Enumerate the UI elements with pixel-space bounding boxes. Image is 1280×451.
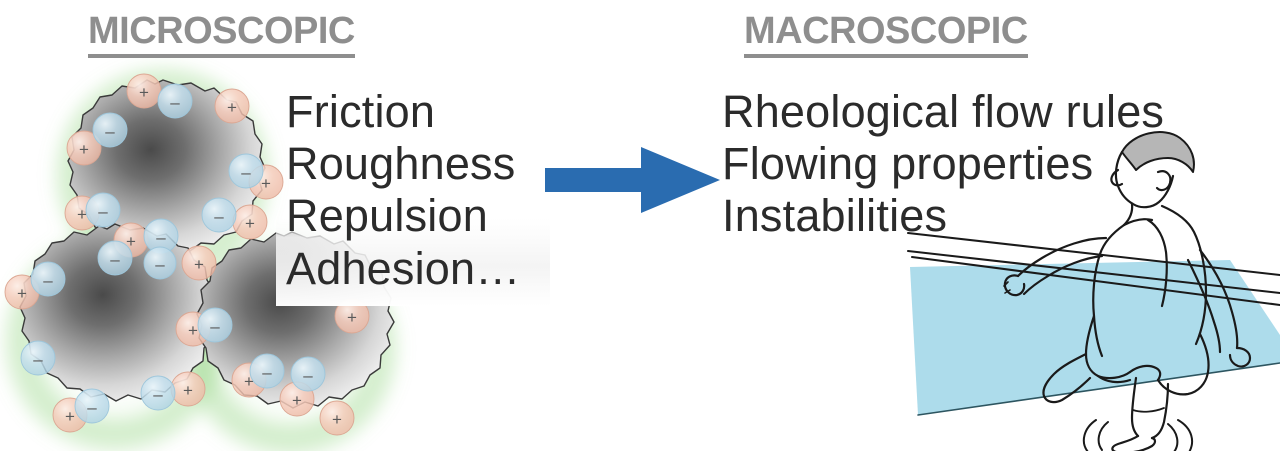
svg-text:–: – <box>43 271 53 290</box>
svg-text:+: + <box>332 410 342 429</box>
micro-property-2: Repulsion <box>286 190 520 242</box>
heading-macroscopic: MACROSCOPIC <box>744 12 1028 58</box>
ripple-left-inner <box>1099 422 1108 450</box>
front-leg <box>1132 378 1138 436</box>
macro-property-1: Flowing properties <box>722 138 1164 190</box>
ripple-right-outer <box>1178 420 1192 451</box>
svg-text:–: – <box>98 202 108 221</box>
svg-text:–: – <box>156 228 166 247</box>
macro-property-0: Rheological flow rules <box>722 86 1164 138</box>
svg-text:+: + <box>79 140 89 159</box>
heading-microscopic-text: MICROSCOPIC <box>88 10 355 52</box>
arrow-shape <box>545 147 720 213</box>
macroscopic-property-list: Rheological flow rules Flowing propertie… <box>722 86 1164 243</box>
svg-text:+: + <box>261 174 271 193</box>
figure-canvas: MICROSCOPIC MACROSCOPIC <box>0 0 1280 451</box>
svg-text:–: – <box>210 317 220 336</box>
svg-text:+: + <box>17 284 27 303</box>
svg-text:+: + <box>227 98 237 117</box>
svg-text:+: + <box>183 381 193 400</box>
svg-text:–: – <box>170 93 180 112</box>
svg-text:–: – <box>214 207 224 226</box>
ripple-right-inner <box>1168 424 1177 451</box>
svg-text:–: – <box>241 163 251 182</box>
svg-text:–: – <box>155 255 165 274</box>
heading-macroscopic-text: MACROSCOPIC <box>744 10 1028 52</box>
svg-text:–: – <box>303 366 313 385</box>
ankle-line <box>1133 408 1164 412</box>
heading-macroscopic-underline <box>744 54 1028 58</box>
microscopic-property-list: Friction Roughness Repulsion Adhesion… <box>286 86 520 295</box>
svg-text:–: – <box>153 385 163 404</box>
macro-property-2: Instabilities <box>722 190 1164 242</box>
svg-text:+: + <box>77 205 87 224</box>
micro-property-3: Adhesion… <box>286 243 520 295</box>
heading-microscopic: MICROSCOPIC <box>88 12 355 58</box>
svg-text:+: + <box>139 83 149 102</box>
foot <box>1112 436 1155 451</box>
svg-text:+: + <box>65 407 75 426</box>
svg-text:+: + <box>292 391 302 410</box>
ripple-left-outer <box>1084 420 1096 451</box>
svg-text:+: + <box>188 321 198 340</box>
micro-property-1: Roughness <box>286 138 520 190</box>
svg-text:–: – <box>33 350 43 369</box>
svg-text:–: – <box>110 250 120 269</box>
svg-text:+: + <box>194 255 204 274</box>
svg-text:–: – <box>262 363 272 382</box>
svg-text:–: – <box>105 122 115 141</box>
svg-text:–: – <box>87 398 97 417</box>
svg-text:+: + <box>245 214 255 233</box>
micro-property-0: Friction <box>286 86 520 138</box>
svg-text:+: + <box>347 308 357 327</box>
right-arrow-icon <box>545 140 720 220</box>
